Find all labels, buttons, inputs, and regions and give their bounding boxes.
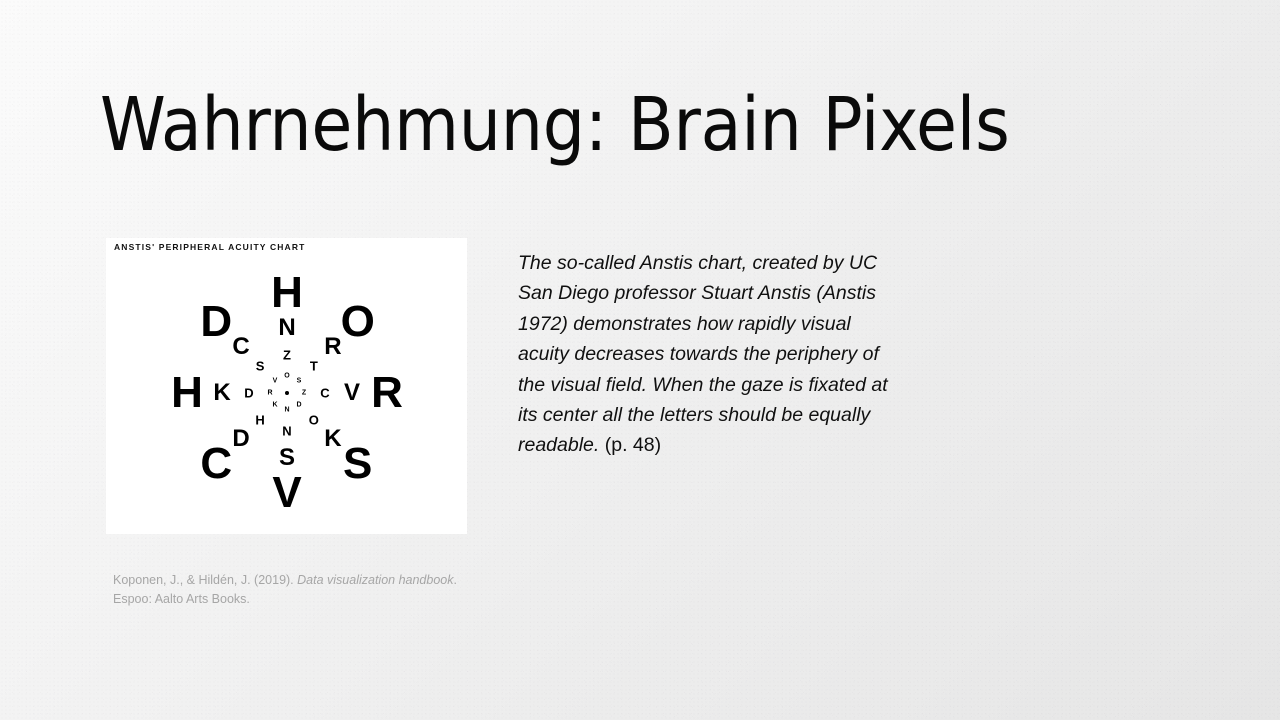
acuity-letter: O [309, 413, 319, 426]
anstis-acuity-chart: VOSRZKNDSZTDCHNOCNRKVDSKDHOHRCVS [106, 252, 467, 534]
acuity-letter: R [267, 390, 272, 397]
acuity-letter: R [324, 335, 341, 359]
acuity-letter: D [296, 402, 301, 409]
page-reference: (p. 48) [605, 434, 661, 456]
acuity-letter: H [255, 413, 264, 426]
acuity-letter: R [371, 371, 403, 415]
acuity-letter: N [278, 316, 295, 340]
slide-title: Wahrnehmung: Brain Pixels [100, 86, 1200, 166]
citation-work-title: Data visualization handbook [297, 573, 453, 587]
acuity-letter: D [244, 387, 253, 400]
acuity-letter: O [284, 373, 289, 380]
acuity-letter: N [284, 407, 289, 414]
anstis-chart-figure: ANSTIS' PERIPHERAL ACUITY CHART VOSRZKND… [106, 238, 467, 534]
fixation-point [285, 391, 289, 395]
acuity-letter: T [310, 360, 318, 373]
acuity-letter: V [272, 471, 301, 515]
acuity-letter: D [200, 300, 232, 344]
acuity-letter: C [200, 442, 232, 486]
acuity-letter: D [232, 427, 249, 451]
acuity-letter: S [256, 360, 265, 373]
acuity-letter: K [272, 402, 277, 409]
source-citation: Koponen, J., & Hildén, J. (2019). Data v… [113, 571, 463, 609]
acuity-letter: Z [302, 390, 306, 397]
acuity-letter: H [271, 271, 303, 315]
acuity-letter: O [341, 300, 375, 344]
body-paragraph: The so-called Anstis chart, created by U… [518, 248, 890, 461]
acuity-letter: K [324, 427, 341, 451]
acuity-letter: S [279, 446, 295, 470]
body-paragraph-text: The so-called Anstis chart, created by U… [518, 252, 888, 456]
acuity-letter: N [282, 425, 291, 438]
acuity-letter: V [344, 381, 360, 405]
acuity-letter: S [343, 442, 372, 486]
acuity-letter: C [320, 387, 329, 400]
slide-canvas: Wahrnehmung: Brain Pixels ANSTIS' PERIPH… [0, 0, 1280, 720]
acuity-letter: C [232, 335, 249, 359]
acuity-letter: K [213, 381, 230, 405]
acuity-letter: S [297, 377, 302, 384]
acuity-letter: H [171, 371, 203, 415]
acuity-letter: Z [283, 349, 291, 362]
anstis-chart-caption: ANSTIS' PERIPHERAL ACUITY CHART [114, 242, 305, 252]
citation-authors-year: Koponen, J., & Hildén, J. (2019). [113, 573, 297, 587]
acuity-letter: V [273, 377, 278, 384]
